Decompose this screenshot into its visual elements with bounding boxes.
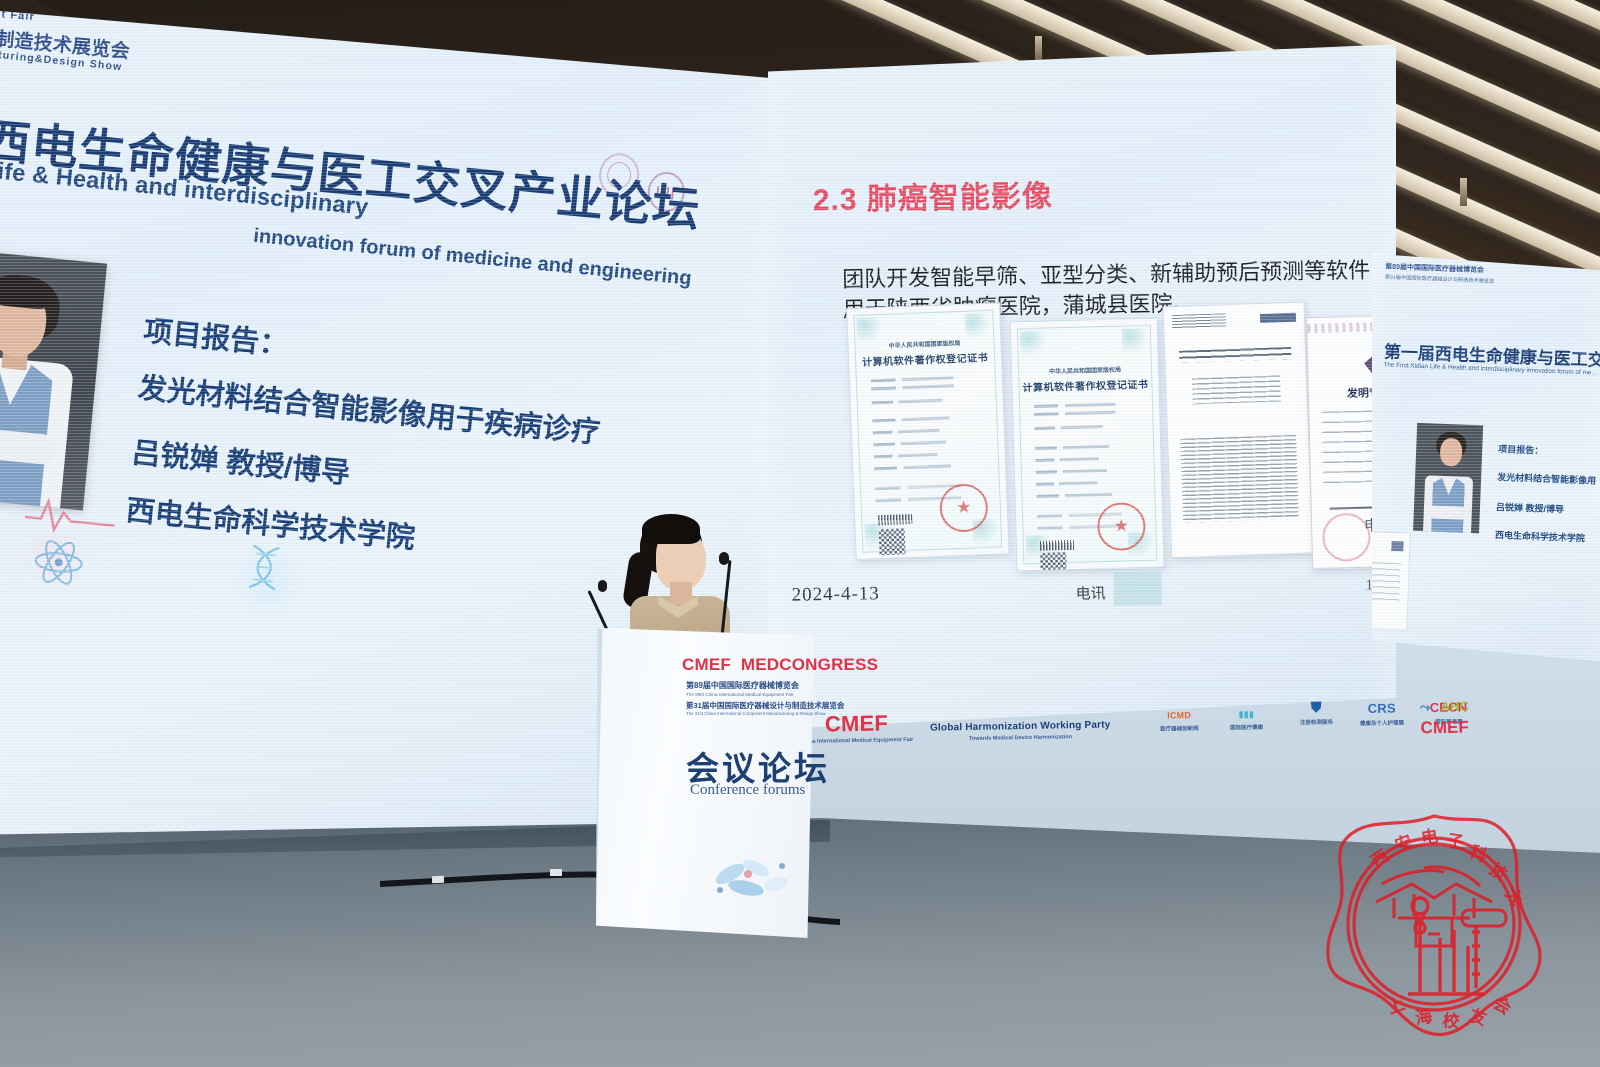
led-screen-right: 第89届中国国际医疗器械博览会 第31届中国国际医疗器械设计与制造技术展览会 第… (1372, 245, 1600, 675)
color-logo: ▮▮▮ (1239, 709, 1255, 719)
podium-line-en2: The 31st China International Component M… (686, 711, 825, 716)
svg-text:电: 电 (1420, 826, 1440, 848)
speaker-portrait-photo (0, 248, 107, 511)
left-line-3: 吕锐婵 教授/博导 (130, 429, 352, 492)
podium-cmef-brand: CMEF MEDCONGRESS (682, 655, 878, 675)
ceiling-hanger (1460, 178, 1467, 206)
slide-date: 2024-4-13 (792, 583, 881, 607)
ceiling-hanger (1035, 36, 1042, 62)
ghwp-logo-sub: Towards Medical Device Harmonization (930, 734, 1111, 743)
screenshot-root: 际医疗器械博览会 …al Equipment Fair 零部件设计与制造技术展览… (0, 0, 1600, 1067)
xidian-shanghai-alumni-seal-watermark: 西 安 电 子 科 技 大 上 海 校 友 会 (1316, 806, 1552, 1042)
right-header-cn-2: 第31届中国国际医疗器械设计与制造技术展览会 (1385, 274, 1495, 285)
podium-line-en: The 89th China International Medical Equ… (686, 692, 794, 697)
color-logo-sub: 国际医疗健康 (1230, 723, 1263, 732)
cert-header-large: 计算机软件著作权登记证书 (1019, 376, 1151, 395)
podium-decorative-graphic (690, 830, 810, 920)
research-paper-thumbnail (1163, 301, 1314, 558)
podium-heading-en: Conference forums (690, 782, 805, 799)
left-line-1: 项目报告： (142, 308, 290, 364)
dna-icon (241, 541, 316, 598)
icmd-logo: ICMD (1167, 710, 1191, 720)
cert-header-small: 中华人民共和国国家版权局 (1019, 364, 1151, 377)
sponsor-logo-bar: CMEF China International Medical Equipme… (799, 686, 1480, 764)
icmd-logo-sub: 医疗器械创新网 (1160, 724, 1199, 733)
left-slide-title-en2: innovation forum of medicine and enginee… (252, 225, 692, 291)
ahc-logo: AHC (1441, 699, 1469, 714)
sponsor-logo-extra: ⤳ AHC CMEF (1420, 698, 1470, 739)
cmef-logo: CMEF (825, 710, 889, 736)
led-screen-center: 2.3 肺癌智能影像 团队开发智能早筛、亚型分类、新辅助预后预测等软件； 用于陕… (768, 40, 1396, 740)
right-line-1: 项目报告： (1498, 442, 1543, 457)
microphone-head-icon (598, 580, 607, 592)
podium-line-cn: 第89届中国国际医疗器械博览会 (686, 680, 799, 691)
podium-medcongress-text: MEDCONGRESS (741, 655, 878, 674)
right-line-2: 发光材料结合智能影像用 (1497, 470, 1596, 487)
right-line-3: 吕锐婵 教授/博导 (1496, 500, 1564, 516)
decorative-blob (0, 545, 5, 676)
svg-text:会: 会 (1490, 992, 1515, 1018)
software-copyright-certificate: 中华人民共和国国家版权局 计算机软件著作权登记证书 (846, 302, 1010, 560)
crs-logo: CRS (1368, 701, 1396, 716)
right-line-4: 西电生命科学技术学院 (1495, 528, 1585, 544)
sport-logo: ⤳ (1420, 699, 1431, 714)
cmef-logo-2: CMEF (1420, 718, 1469, 739)
shield-logo-sub: 注册检测服务 (1300, 718, 1333, 727)
right-certificate-thumb (1372, 531, 1411, 631)
ghwp-logo: Global Harmonization Working Party (930, 720, 1111, 734)
atom-icon (30, 534, 87, 591)
crs-logo-sub: 健康及个人护理展 (1360, 718, 1404, 727)
podium-line-cn2: 第31届中国国际医疗器械设计与制造技术展览会 (686, 700, 844, 711)
svg-text:校: 校 (1442, 1010, 1462, 1032)
shield-icon: ⛊ (1311, 699, 1322, 715)
blurred-region (1113, 571, 1162, 606)
microphone-head-icon (719, 552, 729, 565)
right-speaker-photo (1413, 423, 1483, 533)
cert-header-large: 计算机软件著作权登记证书 (856, 349, 994, 369)
software-copyright-certificate: 中华人民共和国国家版权局 计算机软件著作权登记证书 (1010, 317, 1165, 571)
speaker-person (614, 512, 734, 642)
svg-text:海: 海 (1414, 1006, 1434, 1028)
podium-cmef-text: CMEF (682, 655, 731, 674)
svg-text:安: 安 (1392, 831, 1415, 856)
slide-footer-text: 电讯 (1076, 582, 1106, 604)
slide-section-title: 2.3 肺癌智能影像 (812, 171, 1053, 219)
svg-text:子: 子 (1445, 831, 1464, 852)
